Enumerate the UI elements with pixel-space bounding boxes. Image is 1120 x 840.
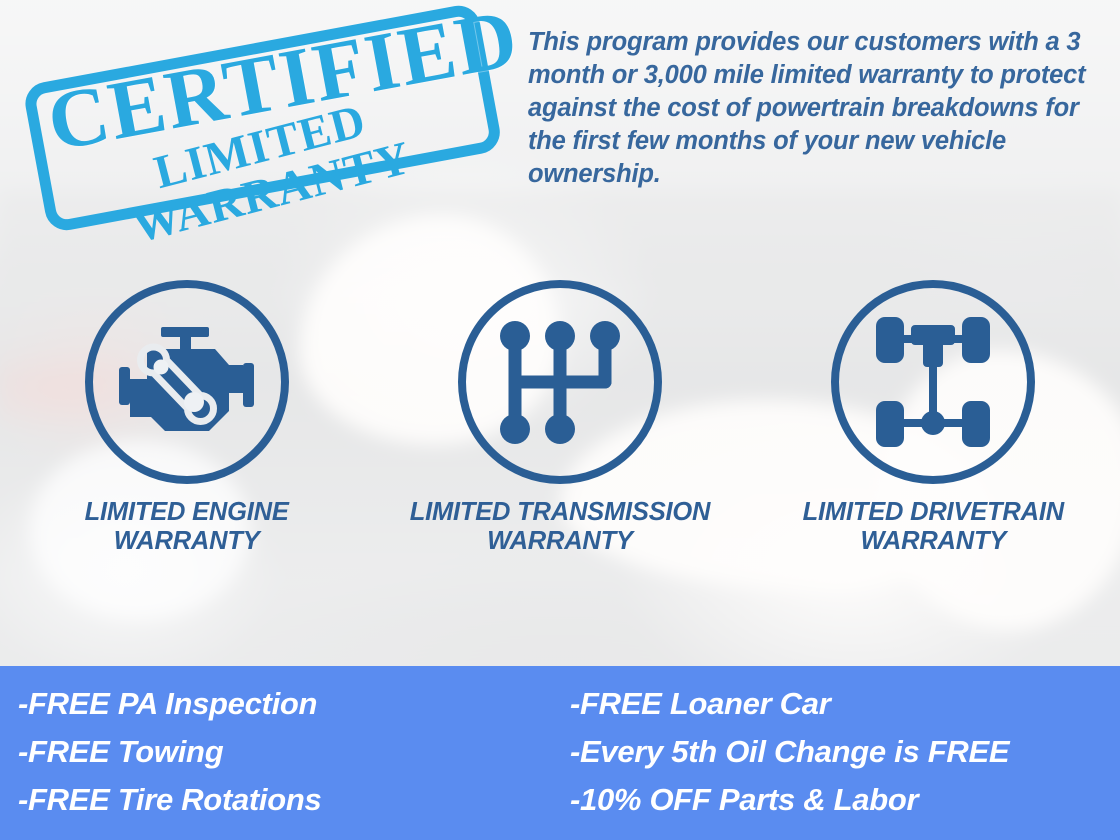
coverage-features: LIMITED ENGINE WARRANTY xyxy=(0,280,1120,557)
drivetrain-badge xyxy=(831,280,1035,484)
perk-item: -Every 5th Oil Change is FREE xyxy=(570,728,1120,776)
feature-label: LIMITED TRANSMISSION WARRANTY xyxy=(410,498,711,557)
perks-column-right: -FREE Loaner Car -Every 5th Oil Change i… xyxy=(560,680,1120,840)
gear-shifter-icon xyxy=(495,316,625,448)
perks-bar: -FREE PA Inspection -FREE Towing -FREE T… xyxy=(0,666,1120,840)
feature-limited-drivetrain: LIMITED DRIVETRAIN WARRANTY xyxy=(747,280,1120,557)
perks-column-left: -FREE PA Inspection -FREE Towing -FREE T… xyxy=(0,680,560,840)
program-description: This program provides our customers with… xyxy=(528,26,1088,190)
warranty-promo-graphic: CERTIFIED LIMITED WARRANTY This program … xyxy=(0,0,1120,840)
feature-label: LIMITED DRIVETRAIN WARRANTY xyxy=(803,498,1064,557)
perk-item: -FREE Towing xyxy=(18,728,560,776)
drivetrain-chassis-icon xyxy=(867,315,999,449)
transmission-badge xyxy=(458,280,662,484)
perk-item: -FREE Tire Rotations xyxy=(18,776,560,824)
feature-limited-engine: LIMITED ENGINE WARRANTY xyxy=(0,280,373,557)
perk-item: -FREE PA Inspection xyxy=(18,680,560,728)
feature-label: LIMITED ENGINE WARRANTY xyxy=(85,498,289,557)
feature-limited-transmission: LIMITED TRANSMISSION WARRANTY xyxy=(373,280,746,557)
engine-icon xyxy=(117,319,257,445)
engine-badge xyxy=(85,280,289,484)
perk-item: -10% OFF Parts & Labor xyxy=(570,776,1120,824)
perk-item: -FREE Loaner Car xyxy=(570,680,1120,728)
